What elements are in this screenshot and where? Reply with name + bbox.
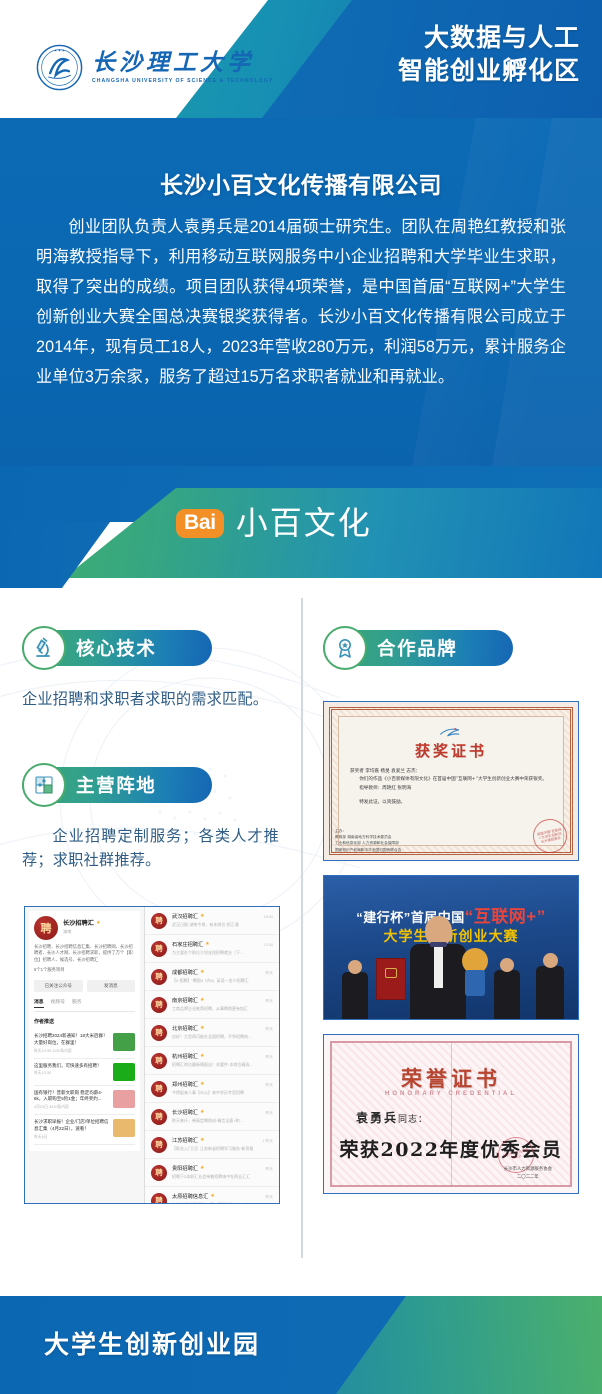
account-tabs: 消息 视频号 服务 [34,998,135,1012]
city-name: 江苏招聘汇 [172,1137,198,1144]
honor-recipient-name: 袁勇兵同志： [356,1109,428,1126]
list-item[interactable]: 聘 石家庄招聘汇★ 为主要在个职位介绍支找招聘就业（下... 13:40 [145,935,279,963]
poster-header: ★ ★ ★ 长沙理工大学 CHANGSHA UNIVERSITY OF SCIE… [0,0,602,118]
award-ceremony-photo: “建行杯”首届中国“互联网+” 大学生创新创业大赛 [323,875,579,1020]
city-sub: 工商品牌企业推荐招聘，从事聘岗更有加汇 [172,1006,261,1012]
city-avatar: 聘 [151,1081,167,1097]
city-name: 北京招聘汇 [172,1025,198,1032]
article-title: 长沙求职早报！企业/门店/单位招聘信息汇集（4月22日），速看！ [34,1119,109,1133]
section-header-main-business: 主营阵地 [0,763,301,807]
poster-footer: 大学生创新创业园 [0,1288,602,1394]
company-logo: Bai 小百文化 [176,507,372,539]
award-certificate-title: 获奖证书 [350,740,552,761]
city-sub: 招聘下2本职汇业会带着招聘来中在两业汇汇 [172,1174,261,1180]
city-time: 昨天 [266,1025,273,1032]
honor-main-text: 荣获2022年度优秀会员 [324,1135,578,1162]
city-sub: 【职业入门日】江苏新省招聘学习服务·新资格 [172,1146,258,1152]
honor-certificate-title: 荣誉证书 [324,1063,578,1093]
verified-badge-icon: ★ [200,1109,204,1115]
list-item[interactable]: 这里服务我们，可快速多有招聘！ 昨天10:30 [34,1059,135,1086]
verified-badge-icon: ★ [200,1053,204,1059]
city-name: 石家庄招聘汇 [172,941,203,948]
city-time: 昨天 [266,1053,273,1060]
city-time: 昨天 [266,1081,273,1088]
main-business-label: 主营阵地 [76,767,156,803]
article-thumbnail [113,1119,135,1137]
svg-text:★ ★ ★: ★ ★ ★ [54,49,65,53]
intro-panel: 长沙小百文化传播有限公司 创业团队负责人袁勇兵是2014届硕士研究生。团队在周艳… [0,118,602,466]
company-name: 长沙小百文化传播有限公司 [0,166,602,200]
award-recipient-line: 获奖者 李均嘉 杨旻 袁爱兰 志杰： [350,768,552,776]
honor-person-suffix: 同志： [398,1115,428,1125]
honorary-certificate-image: 荣誉证书 HONORARY CREDENTIAL 袁勇兵同志： 荣获2022年度… [323,1034,579,1194]
article-thumbnail [113,1033,135,1051]
city-name: 杭州招聘汇 [172,1053,198,1060]
city-time: 13:40 [264,941,273,947]
puzzle-glyph [32,773,56,797]
section-header-partner-brands: 合作品牌 [301,626,602,670]
tab-messages[interactable]: 消息 [34,998,44,1008]
award-medal-icon [323,626,367,670]
phone-city-list[interactable]: 聘 武汉招聘汇★ 武汉日报·湖南今地，有末岗位·招汇通 18:30 聘 石家庄招… [145,907,279,1203]
account-extra: 6个1个服务项目 [34,967,135,973]
city-name: 南京招聘汇 [172,997,198,1004]
verified-badge-icon: ★ [210,1193,214,1199]
city-avatar: 聘 [151,941,167,957]
footer-title: 大学生创新创业园 [44,1325,260,1361]
list-item[interactable]: 聘 北京招聘汇★ 应好！大型两可能在全国招聘，不争招聘热... 昨天 [145,1019,279,1047]
award-closing-line: 特发此证，以资鼓励。 [350,799,552,807]
honor-person: 袁勇兵 [356,1111,398,1125]
city-time: 昨天 [266,1193,273,1200]
verified-badge-icon: ★ [200,1025,204,1031]
tab-video[interactable]: 视频号 [51,998,65,1008]
city-name: 郑州招聘汇 [172,1081,198,1088]
phone-account-card: 聘 长沙招聘汇 ★ 湖南 长沙招聘、长沙招聘信息汇集、长沙招聘网、长沙招聘者、长… [29,911,140,1151]
article-title: 这里服务我们，可快速多有招聘！ [34,1063,109,1070]
city-sub: 今得起来人事【众公】来中学历专官招聘 [172,1090,261,1096]
university-logo: ★ ★ ★ 长沙理工大学 CHANGSHA UNIVERSITY OF SCIE… [36,44,273,91]
bai-badge: Bai [176,509,224,538]
city-time: 1 昨天 [263,1137,273,1144]
brand-band: Bai 小百文化 [0,466,602,588]
verified-badge-icon: ★ [205,941,209,947]
city-time: 昨天 [266,997,273,1004]
partner-brands-label: 合作品牌 [377,630,457,666]
award-certificate-image: 获奖证书 获奖者 李均嘉 杨旻 袁爱兰 志杰： 你们的作品《小百新媒体有限文化》… [323,701,579,861]
puzzle-icon [22,763,66,807]
university-name-cn: 长沙理工大学 [92,51,273,74]
company-description: 创业团队负责人袁勇兵是2014届硕士研究生。团队在周艳红教授和张明海教授指导下，… [36,213,566,393]
award-advisor-line: 指导教师：周艳红 张明海 [350,785,552,793]
account-meta: 长沙招聘汇 ★ 湖南 [63,916,100,935]
poster-root: ★ ★ ★ 长沙理工大学 CHANGSHA UNIVERSITY OF SCIE… [0,0,602,1394]
city-avatar: 聘 [151,969,167,985]
verified-badge-icon: ★ [96,920,100,926]
section-header-core-tech: 核心技术 [0,626,301,670]
verified-badge-icon: ★ [200,997,204,1003]
honor-certificate-subtitle: HONORARY CREDENTIAL [324,1091,578,1097]
microscope-icon [22,626,66,670]
official-stamp-icon: 首届中国“互联网+”大学生创新创业大赛组委会 [530,816,570,856]
city-name: 武汉招聘汇 [172,913,198,920]
account-button-row: 已关注公众号 发消息 [34,980,135,992]
article-title: 国有银行！普薪文职岗 稳定均薪4-6k，入职购至5险1金；年终奖约... [34,1090,109,1104]
phone-account-panel: 聘 长沙招聘汇 ★ 湖南 长沙招聘、长沙招聘信息汇集、长沙招聘网、长沙招聘者、长… [25,907,145,1203]
article-date: 昨天10:30 1130条内容 [34,1049,109,1054]
city-name: 贵阳招聘汇 [172,1165,198,1172]
city-sub: 昨天来什，带高定聘岗成·精言全面+和... [172,1118,261,1124]
article-thumbnail [113,1090,135,1108]
city-time: 昨天 [266,1165,273,1172]
photo-banner-line-1: “建行杯”首届中国“互联网+” [324,902,578,927]
verified-badge-icon: ★ [200,1081,204,1087]
list-item[interactable]: 聘 南京招聘汇★ 工商品牌企业推荐招聘，从事聘岗更有加汇 昨天 [145,991,279,1019]
company-brand-name: 小百文化 [236,507,372,539]
city-avatar: 聘 [151,913,167,929]
award-org-lines: 主办： 教育部 湖南省地方科学技术委员会 工业和信息化部 人力资源和社会保障部 … [335,828,401,853]
list-item[interactable]: 聘 武汉招聘汇★ 武汉日报·湖南今地，有末岗位·招汇通 18:30 [145,907,279,935]
city-sub: 为主要在个职位介绍支找招聘就业（下... [172,950,259,956]
city-time: 昨天 [266,969,273,976]
verified-badge-icon: ★ [200,1137,204,1143]
city-sub: 【2·招聘】“聘国4 7内9」英语一金少招聘汇 [172,978,261,984]
university-seal-icon: ★ ★ ★ [36,44,83,91]
list-item[interactable]: 聘 郑州招聘汇★ 今得起来人事【众公】来中学历专官招聘 昨天 [145,1075,279,1103]
photo-banner-highlight: “互联网+” [465,907,546,926]
verified-badge-icon: ★ [200,1165,204,1171]
city-avatar: 聘 [151,997,167,1013]
articles-heading: 作者推送 [34,1018,135,1025]
city-name: 成都招聘汇 [172,969,198,976]
award-body-line: 你们的作品《小百新媒体有限文化》在首届中国“互联网+”大学生创新创业大赛中荣获银… [350,776,552,784]
right-column: 合作品牌 获奖证书 获奖者 李均嘉 杨旻 袁爱兰 志杰： 你们的作品《小百新媒体… [301,588,602,1288]
city-avatar: 聘 [151,1109,167,1125]
city-time: 昨天 [266,1109,273,1116]
list-item[interactable]: 聘 长沙招聘汇★ 昨天来什，带高定聘岗成·精言全面+和... 昨天 [145,1103,279,1131]
list-item[interactable]: 聘 成都招聘汇★ 【2·招聘】“聘国4 7内9」英语一金少招聘汇 昨天 [145,963,279,991]
photo-banner-prefix: “建行杯”首届 [356,910,438,925]
verified-badge-icon: ★ [200,969,204,975]
header-title: 大数据与人工 智能创业孵化区 [398,22,580,88]
left-column: 核心技术 企业招聘和求职者求职的需求匹配。 主营阵地 [0,588,301,1288]
city-time: 18:30 [264,913,273,919]
main-business-text: 企业招聘定制服务；各类人才推荐；求职社群推荐。 [22,825,279,874]
competition-logo-icon [438,726,464,738]
phone-mockup: 聘 长沙招聘汇 ★ 湖南 长沙招聘、长沙招聘信息汇集、长沙招聘网、长沙招聘者、长… [24,906,280,1204]
account-subtitle: 湖南 [63,929,100,935]
honor-org: 长沙市人力资源服务协会 二〇二二年 [504,1166,552,1181]
follow-button[interactable]: 已关注公众号 [34,980,83,992]
account-name: 长沙招聘汇 [63,918,94,927]
city-name: 太原招聘信息汇 [172,1193,208,1200]
city-avatar: 聘 [151,1193,167,1205]
city-sub: 上岗位最新招·预热一招：招汇岗位一专、上 [172,1202,261,1204]
university-name-en: CHANGSHA UNIVERSITY OF SCIENCE & TECHNOL… [92,78,273,84]
article-thumbnail [113,1063,135,1081]
article-date: 昨天6日 [34,1135,109,1140]
city-avatar: 聘 [151,1053,167,1069]
message-button[interactable]: 发消息 [87,980,136,992]
city-avatar: 聘 [151,1137,167,1153]
city-sub: 招聘汇岗位最新情报出！非要件·本岗位精选... [172,1062,261,1068]
city-sub: 武汉日报·湖南今地，有末岗位·招汇通 [172,922,259,928]
verified-badge-icon: ★ [200,913,204,919]
city-avatar: 聘 [151,1165,167,1181]
account-name-row: 长沙招聘汇 ★ [63,918,100,927]
account-description: 长沙招聘、长沙招聘信息汇集、长沙招聘网、长沙招聘者、长沙人才网、长沙招聘求职，提… [34,944,135,963]
city-name: 长沙招聘汇 [172,1109,198,1116]
tab-services[interactable]: 服务 [72,998,82,1008]
list-item[interactable]: 聘 贵阳招聘汇★ 招聘下2本职汇业会带着招聘来中在两业汇汇 昨天 [145,1159,279,1187]
list-item[interactable]: 聘 杭州招聘汇★ 招聘汇岗位最新情报出！非要件·本岗位精选... 昨天 [145,1047,279,1075]
article-date: 4月23日 3410条内容 [34,1105,109,1110]
list-item[interactable]: 聘 江苏招聘汇★ 【职业入门日】江苏新省招聘学习服务·新资格 1 昨天 [145,1131,279,1159]
article-title: 长沙招聘2024新通知！18大米后群！大量好岗位，在群里！ [34,1033,109,1047]
content-area: 核心技术 企业招聘和求职者求职的需求匹配。 主营阵地 [0,588,602,1288]
city-sub: 应好！大型两可能在全国招聘，不争招聘热... [172,1034,261,1040]
university-wordmark: 长沙理工大学 CHANGSHA UNIVERSITY OF SCIENCE & … [92,51,273,84]
core-tech-label: 核心技术 [76,630,156,666]
article-date: 昨天10:30 [34,1071,109,1076]
list-item[interactable]: 聘 太原招聘信息汇★ 上岗位最新招·预热一招：招汇岗位一专、上 昨天 [145,1187,279,1204]
core-tech-text: 企业招聘和求职者求职的需求匹配。 [22,688,279,713]
list-item[interactable]: 长沙招聘2024新通知！18大米后群！大量好岗位，在群里！ 昨天10:30 11… [34,1029,135,1059]
list-item[interactable]: 国有银行！普薪文职岗 稳定均薪4-6k，入职购至5险1金；年终奖约... 4月2… [34,1086,135,1116]
list-item[interactable]: 长沙求职早报！企业/门店/单位招聘信息汇集（4月22日），速看！ 昨天6日 [34,1115,135,1145]
account-avatar: 聘 [34,916,58,940]
phone-account-header: 聘 长沙招聘汇 ★ 湖南 [34,916,135,940]
city-avatar: 聘 [151,1025,167,1041]
